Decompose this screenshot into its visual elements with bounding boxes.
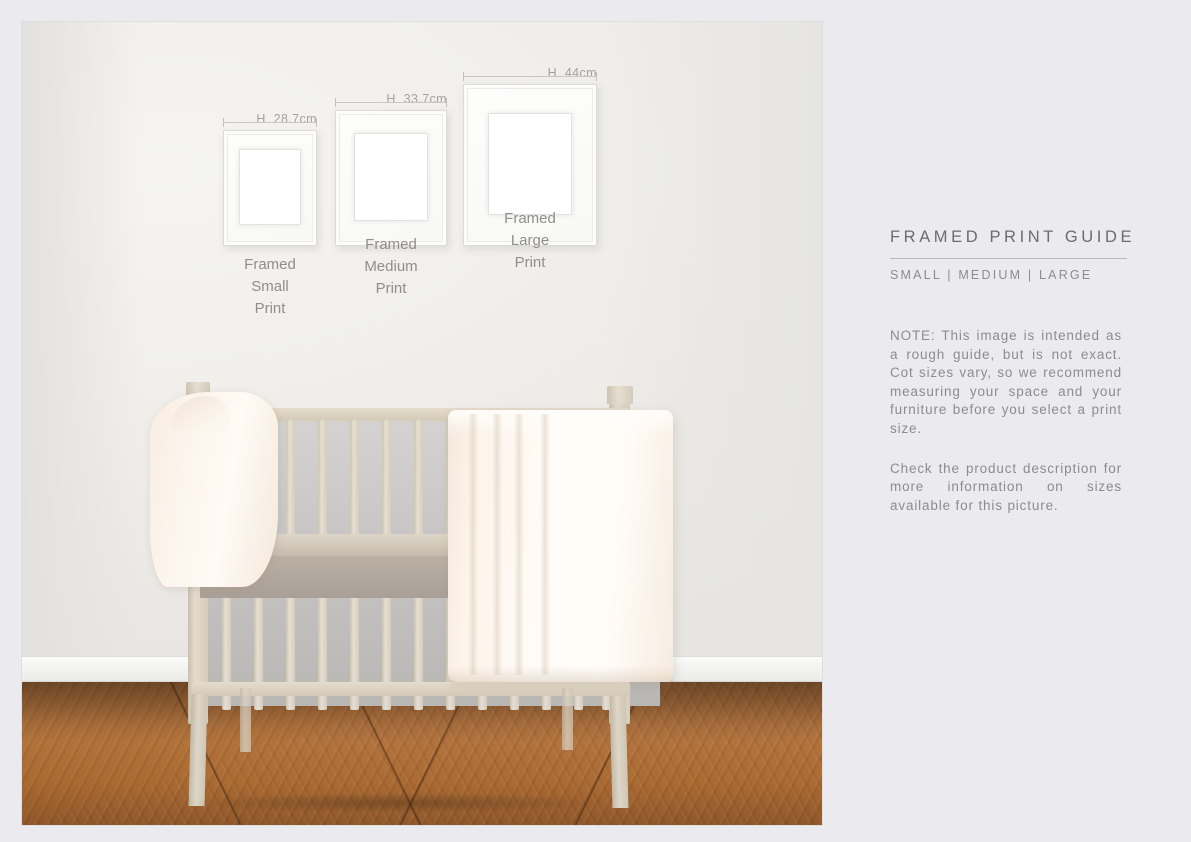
guide-title: FRAMED PRINT GUIDE [890,228,1130,247]
cot-floor-shadow [117,792,677,814]
print-area-large [488,113,572,215]
print-area-medium [354,133,428,221]
measure-bracket-small [223,118,317,127]
measure-bracket-medium [335,98,447,107]
note-paragraph-2: Check the product description for more i… [890,460,1122,516]
info-panel: FRAMED PRINT GUIDE SMALL | MEDIUM | LARG… [890,228,1130,515]
guide-note: NOTE: This image is intended as a rough … [890,327,1122,515]
wall-shading-left [22,22,142,682]
guide-subtitle: SMALL | MEDIUM | LARGE [890,268,1130,282]
frame-group-large: H 44cm W 33.7cm Framed Large Print [463,84,597,246]
frame-caption-large: Framed Large Print [423,208,637,274]
page-root: H 28.7cm W 23.7cm Framed Small Print [0,0,1191,842]
cot-leg-rear-left [240,688,251,752]
cot-leg-rear-right [562,688,573,750]
note-paragraph-1: NOTE: This image is intended as a rough … [890,327,1122,439]
frame-group-small: H 28.7cm W 23.7cm Framed Small Print [223,130,317,246]
measure-bracket-large [463,72,597,81]
print-area-small [239,149,301,225]
framed-print-small[interactable] [223,130,317,246]
cot-finial-right [607,386,633,404]
blanket-draped-right [448,410,673,682]
room-photo: H 28.7cm W 23.7cm Framed Small Print [22,22,822,825]
title-divider [890,258,1127,259]
cot-leg-left [189,694,208,806]
